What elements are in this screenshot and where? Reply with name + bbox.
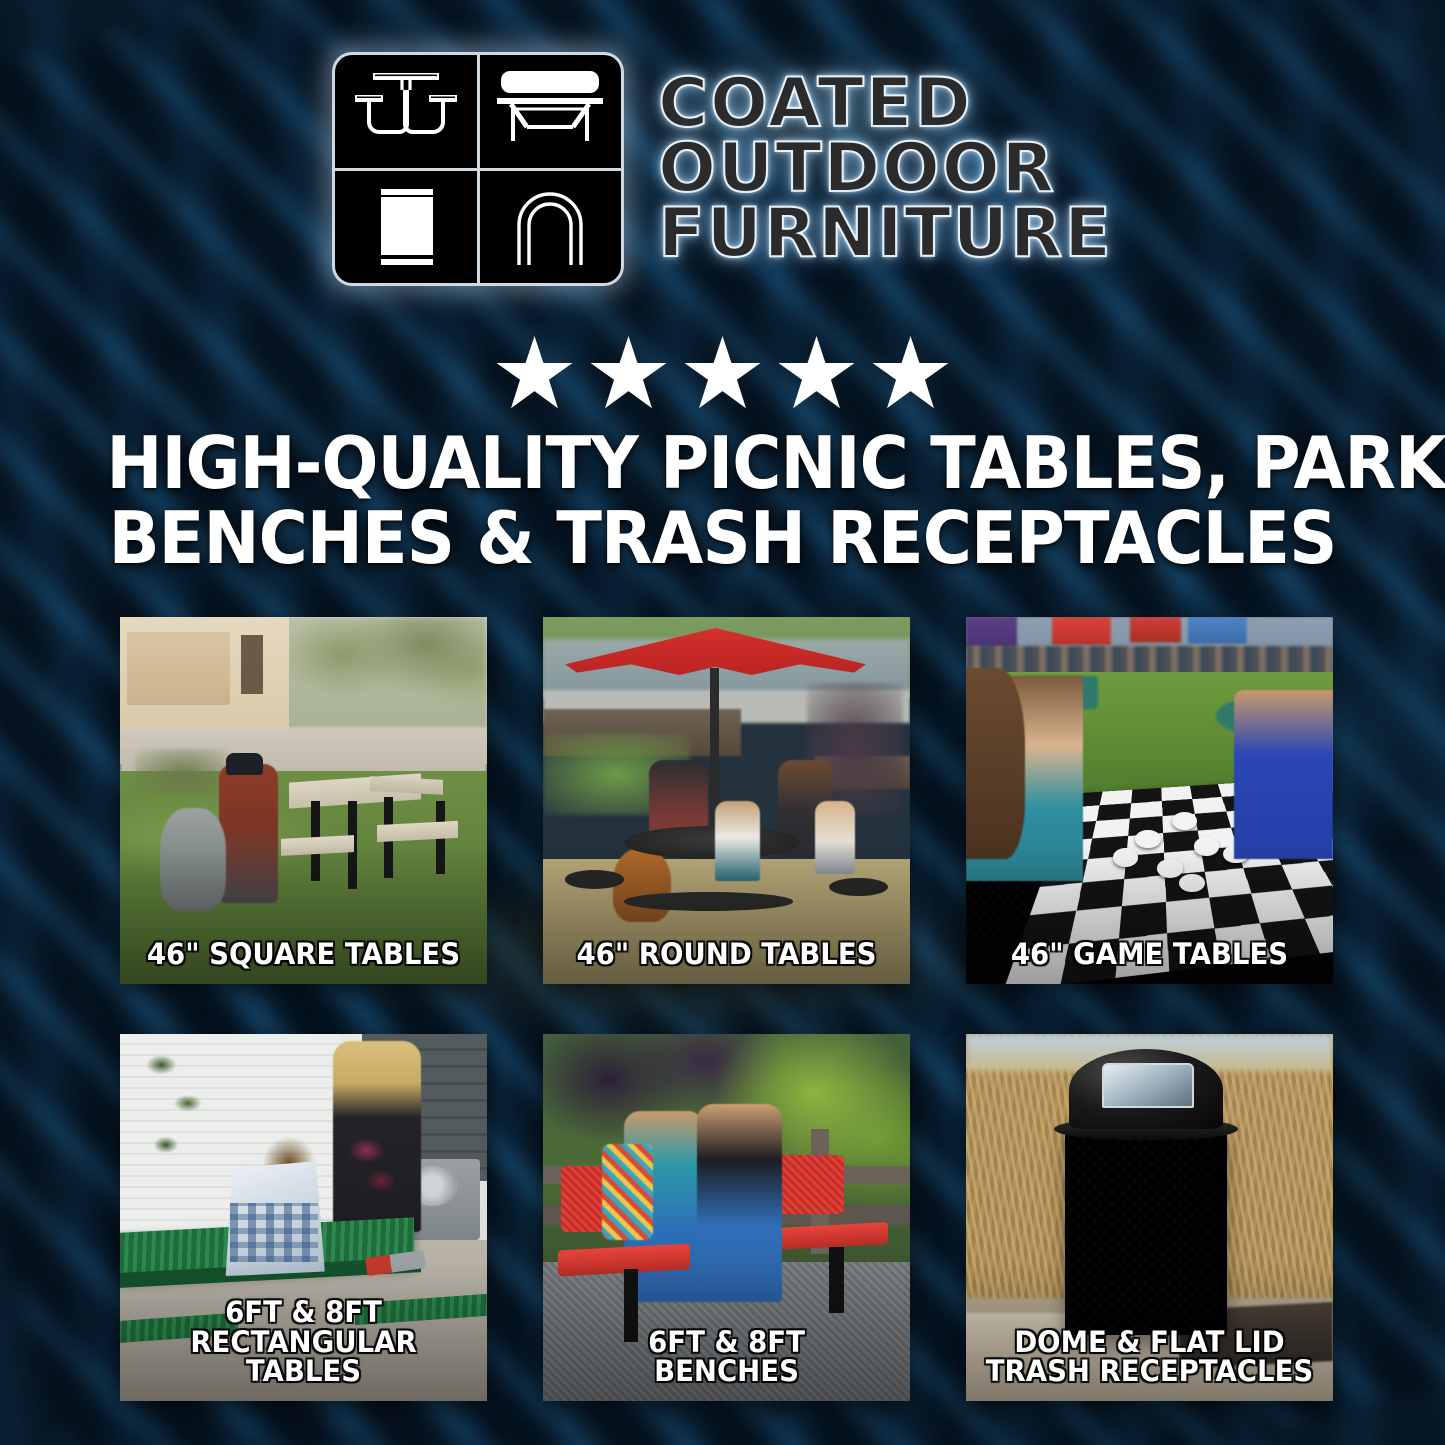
caption-line-2: RECTANGULAR TABLES bbox=[137, 1328, 470, 1387]
product-tile-benches[interactable]: 6FT & 8FT BENCHES bbox=[543, 1034, 910, 1401]
picnic-table-icon bbox=[335, 55, 477, 168]
promo-graphic: COATED OUTDOOR FURNITURE HIGH-QUALITY PI… bbox=[0, 0, 1445, 1445]
product-tile-trash-receptacles[interactable]: DOME & FLAT LID TRASH RECEPTACLES bbox=[966, 1034, 1333, 1401]
product-grid: 46" SQUARE TABLES bbox=[120, 617, 1334, 1401]
caption-line-1: 46" GAME TABLES bbox=[983, 940, 1316, 970]
product-caption: 6FT & 8FT RECTANGULAR TABLES bbox=[137, 1298, 470, 1387]
star-icon bbox=[685, 336, 761, 412]
wordmark-line-3: FURNITURE bbox=[658, 202, 1113, 266]
product-tile-round-tables[interactable]: 46" ROUND TABLES bbox=[543, 617, 910, 984]
star-rating bbox=[0, 336, 1445, 412]
headline-line-2: BENCHES & TRASH RECEPTACLES bbox=[106, 501, 1338, 576]
product-caption: 6FT & 8FT BENCHES bbox=[560, 1328, 893, 1387]
caption-line-1: 6FT & 8FT bbox=[137, 1298, 470, 1328]
wordmark-line-1: COATED bbox=[658, 72, 1113, 136]
caption-line-2: TRASH RECEPTACLES bbox=[983, 1357, 1316, 1387]
caption-line-1: 6FT & 8FT bbox=[560, 1328, 893, 1358]
product-caption: DOME & FLAT LID TRASH RECEPTACLES bbox=[983, 1328, 1316, 1387]
caption-line-1: 46" SQUARE TABLES bbox=[137, 940, 470, 970]
logo-mark bbox=[332, 52, 624, 286]
headline: HIGH-QUALITY PICNIC TABLES, PARK BENCHES… bbox=[106, 426, 1338, 576]
product-caption: 46" SQUARE TABLES bbox=[137, 940, 470, 970]
trash-receptacle-icon bbox=[335, 171, 477, 284]
brand-header: COATED OUTDOOR FURNITURE bbox=[0, 52, 1445, 286]
caption-line-2: BENCHES bbox=[560, 1357, 893, 1387]
brand-wordmark: COATED OUTDOOR FURNITURE bbox=[658, 72, 1113, 266]
wordmark-line-2: OUTDOOR bbox=[658, 137, 1113, 201]
bike-rack-icon bbox=[480, 171, 622, 284]
caption-line-1: DOME & FLAT LID bbox=[983, 1328, 1316, 1358]
product-caption: 46" ROUND TABLES bbox=[560, 940, 893, 970]
product-tile-square-tables[interactable]: 46" SQUARE TABLES bbox=[120, 617, 487, 984]
product-caption: 46" GAME TABLES bbox=[983, 940, 1316, 970]
product-tile-game-tables[interactable]: 46" GAME TABLES bbox=[966, 617, 1333, 984]
product-tile-rectangular-tables[interactable]: 6FT & 8FT RECTANGULAR TABLES bbox=[120, 1034, 487, 1401]
bench-icon bbox=[480, 55, 622, 168]
star-icon bbox=[497, 336, 573, 412]
headline-line-1: HIGH-QUALITY PICNIC TABLES, PARK bbox=[106, 426, 1338, 501]
star-icon bbox=[779, 336, 855, 412]
star-icon bbox=[591, 336, 667, 412]
star-icon bbox=[873, 336, 949, 412]
caption-line-1: 46" ROUND TABLES bbox=[560, 940, 893, 970]
